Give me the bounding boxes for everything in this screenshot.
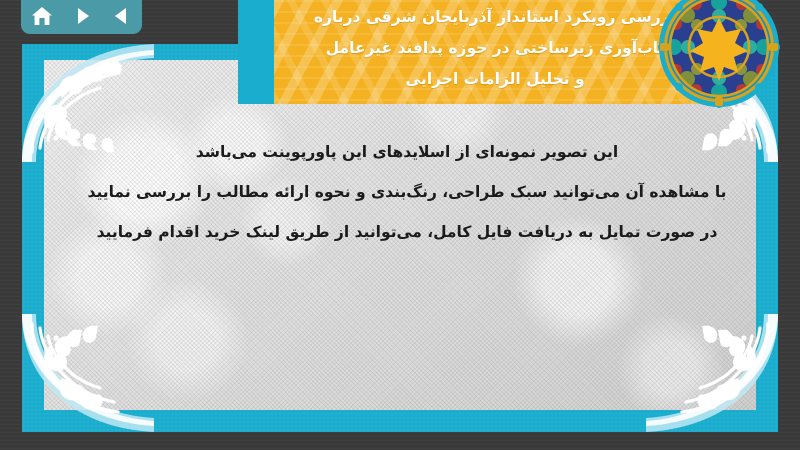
forward-button[interactable] — [69, 4, 95, 28]
body-line-1: این تصویر نمونه‌ای از اسلایدهای این پاور… — [60, 132, 754, 172]
title-banner: بررسی رویکرد استاندار آذربایجان شرقی درب… — [238, 0, 722, 104]
navigation-bar — [21, 0, 142, 34]
slide-body-text: این تصویر نمونه‌ای از اسلایدهای این پاور… — [60, 132, 754, 252]
body-line-3: در صورت تمایل به دریافت فایل کامل، می‌تو… — [60, 212, 754, 252]
triangle-left-icon — [112, 6, 132, 26]
islamic-medallion-ornament-icon — [656, 0, 782, 110]
banner-accent-block — [238, 0, 274, 104]
triangle-right-icon — [72, 6, 92, 26]
slide-title: بررسی رویکرد استاندار آذربایجان شرقی درب… — [282, 2, 708, 95]
home-icon — [31, 6, 53, 26]
body-line-2: با مشاهده آن می‌توانید سبک طراحی، رنگ‌بن… — [60, 172, 754, 212]
back-button[interactable] — [109, 4, 135, 28]
title-line-2: تاب‌آوری زیرساختی در حوزه پدافند غیرعامل — [282, 33, 708, 64]
title-line-3: و تحلیل الزامات اجرایی — [282, 64, 708, 95]
home-button[interactable] — [29, 4, 55, 28]
slide-stage: این تصویر نمونه‌ای از اسلایدهای این پاور… — [0, 0, 800, 450]
title-line-1: بررسی رویکرد استاندار آذربایجان شرقی درب… — [282, 2, 708, 33]
